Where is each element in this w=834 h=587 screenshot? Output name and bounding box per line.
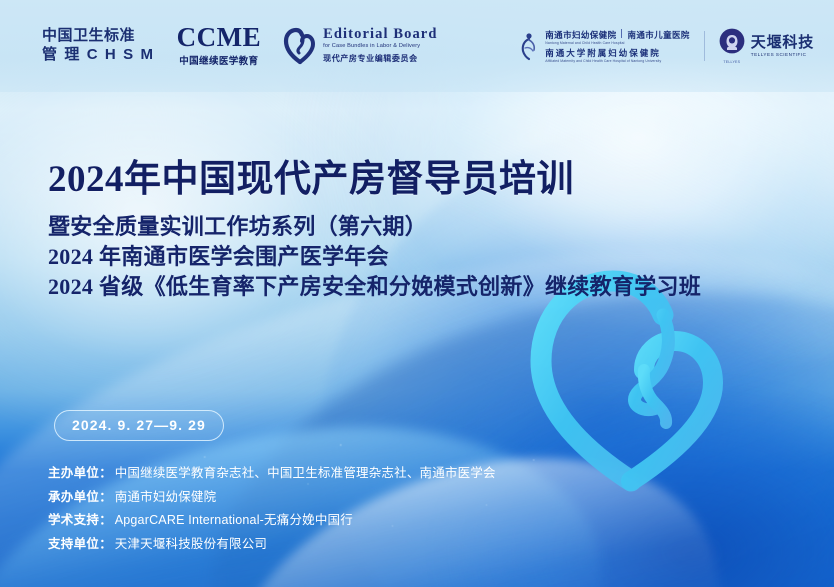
organizer-colon: ： <box>99 462 112 486</box>
logo-separator <box>704 31 705 61</box>
organizer-colon: ： <box>99 509 112 533</box>
editorial-board-logo: Editorial Board for Case Bundles in Labo… <box>283 27 437 65</box>
nantong-hospital-chinese-row: 南通市妇幼保健院 南通市儿童医院 <box>545 29 690 41</box>
organizer-list: 主办单位 ： 中国继续医学教育杂志社、中国卫生标准管理杂志社、南通市医学会 承办… <box>48 462 496 556</box>
nantong-hospital-cn-right: 南通市儿童医院 <box>627 29 689 41</box>
nantong-hospital-logo: 南通市妇幼保健院 南通市儿童医院 Nantong Maternal and Ch… <box>518 29 690 63</box>
chsm-logo: 中国卫生标准 管 理 C H S M <box>42 27 155 64</box>
organizer-value: 中国继续医学教育杂志社、中国卫生标准管理杂志社、南通市医学会 <box>115 462 496 486</box>
organizer-value: 天津天堰科技股份有限公司 <box>115 533 267 557</box>
organizer-label: 学术支持 <box>48 509 99 533</box>
sponsor-logos-right: 南通市妇幼保健院 南通市儿童医院 Nantong Maternal and Ch… <box>518 28 814 64</box>
tellyes-logo: TELLYES 天堰科技 TELLYES SCIENTIFIC <box>719 28 814 64</box>
organizer-row: 承办单位 ： 南通市妇幼保健院 <box>48 486 496 510</box>
ccme-logo: CCME 中国继续医学教育 <box>177 24 262 67</box>
organizer-value: 南通市妇幼保健院 <box>115 486 217 510</box>
nantong-hospital-english-row: Nantong Maternal and Child Health Care H… <box>545 41 690 45</box>
poster-main-title: 2024年中国现代产房督导员培训 <box>48 160 701 201</box>
organizer-label: 承办单位 <box>48 486 99 510</box>
title-block: 2024年中国现代产房督导员培训 暨安全质量实训工作坊系列（第六期） 2024 … <box>48 160 701 303</box>
poster-subtitles: 暨安全质量实训工作坊系列（第六期） 2024 年南通市医学会围产医学年会 202… <box>48 212 701 303</box>
editorial-board-logo-subtitle: for Case Bundles in Labor & Delivery <box>323 43 437 50</box>
logo-divider <box>621 29 622 38</box>
tellyes-logo-chinese: 天堰科技 <box>751 35 814 50</box>
nantong-hospital-logo-text: 南通市妇幼保健院 南通市儿童医院 Nantong Maternal and Ch… <box>545 29 690 63</box>
tellyes-mark-icon <box>719 28 745 54</box>
nantong-hospital-en-left: Nantong Maternal and Child Health Care H… <box>545 41 624 45</box>
organizer-colon: ： <box>99 533 112 557</box>
event-date-badge: 2024. 9. 27—9. 29 <box>54 410 224 441</box>
organizer-colon: ： <box>99 486 112 510</box>
nantong-hospital-cn-left: 南通市妇幼保健院 <box>545 29 616 41</box>
organizer-label: 主办单位 <box>48 462 99 486</box>
ccme-logo-chinese: 中国继续医学教育 <box>177 53 262 67</box>
tellyes-logo-english: TELLYES SCIENTIFIC <box>751 52 814 57</box>
conference-poster: 中国卫生标准 管 理 C H S M CCME 中国继续医学教育 Editori… <box>0 0 834 587</box>
organizer-label: 支持单位 <box>48 533 99 557</box>
poster-subtitle-3: 2024 省级《低生育率下产房安全和分娩模式创新》继续教育学习班 <box>48 272 701 302</box>
ccme-logo-acronym: CCME <box>177 24 262 51</box>
organizer-row: 主办单位 ： 中国继续医学教育杂志社、中国卫生标准管理杂志社、南通市医学会 <box>48 462 496 486</box>
editorial-board-heart-icon <box>283 27 317 65</box>
organizer-row: 学术支持 ： ApgarCARE International-无痛分娩中国行 <box>48 509 496 533</box>
editorial-board-logo-chinese: 现代产房专业编辑委员会 <box>323 53 437 64</box>
tellyes-mark-caption: TELLYES <box>719 60 745 64</box>
nantong-hospital-mark-icon <box>518 31 540 61</box>
organizer-row: 支持单位 ： 天津天堰科技股份有限公司 <box>48 533 496 557</box>
tellyes-logo-text: 天堰科技 TELLYES SCIENTIFIC <box>751 35 814 57</box>
poster-subtitle-2: 2024 年南通市医学会围产医学年会 <box>48 242 701 272</box>
chsm-logo-line1: 中国卫生标准 <box>42 27 155 45</box>
nantong-hospital-cn-bottom: 南通大学附属妇幼保健院 <box>545 47 690 59</box>
nantong-hospital-en-bottom: Affiliated Maternity and Child Health Ca… <box>545 59 690 63</box>
poster-subtitle-1: 暨安全质量实训工作坊系列（第六期） <box>48 212 701 242</box>
editorial-board-logo-title: Editorial Board <box>323 27 437 42</box>
sponsor-logos-left: 中国卫生标准 管 理 C H S M CCME 中国继续医学教育 Editori… <box>42 24 438 67</box>
editorial-board-logo-text: Editorial Board for Case Bundles in Labo… <box>323 27 437 64</box>
organizer-value: ApgarCARE International-无痛分娩中国行 <box>115 509 353 533</box>
chsm-logo-line2: 管 理 C H S M <box>42 46 155 64</box>
